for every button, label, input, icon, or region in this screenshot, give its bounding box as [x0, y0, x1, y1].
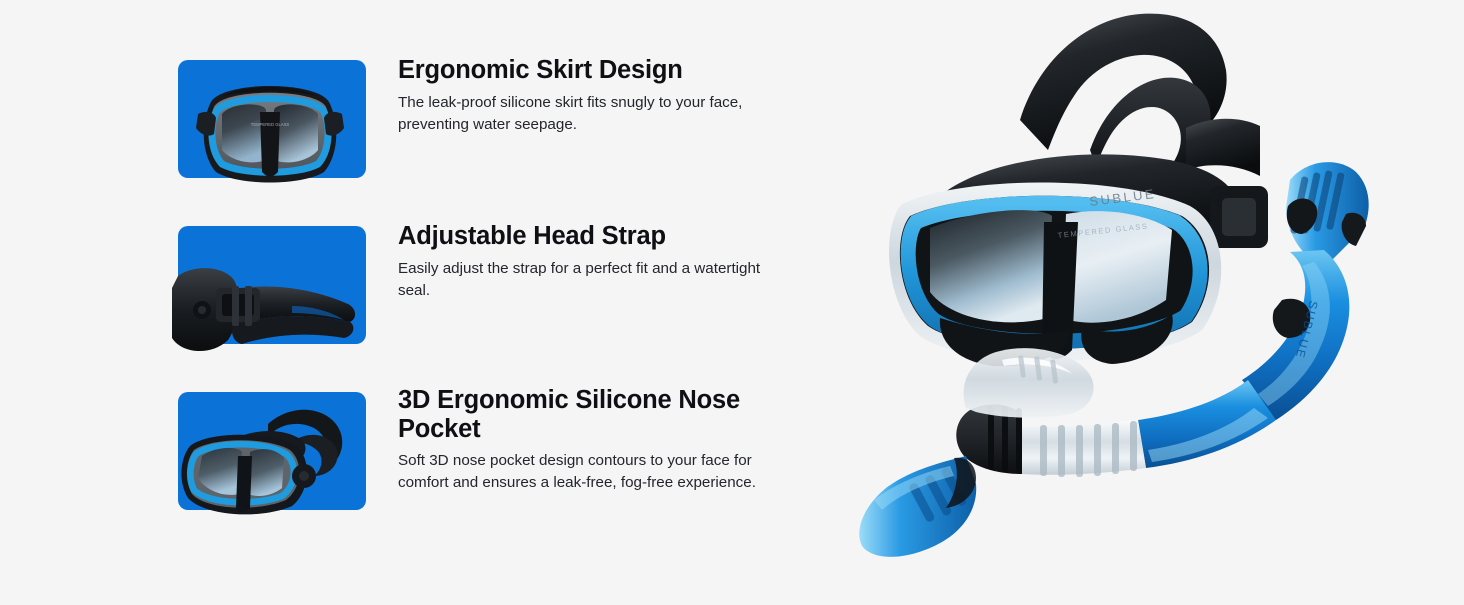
- diving-mask-front-icon: TEMPERED GLASS: [172, 52, 368, 188]
- head-strap-buckle-icon: [172, 218, 368, 354]
- feature-thumbnail-skirt: TEMPERED GLASS: [172, 52, 368, 180]
- strap-right-band: [1186, 119, 1260, 176]
- feature-item-strap: Adjustable Head Strap Easily adjust the …: [172, 218, 798, 346]
- feature-item-nose-pocket: 3D Ergonomic Silicone Nose Pocket Soft 3…: [172, 384, 798, 512]
- diving-mask-angled-icon: [172, 384, 368, 520]
- feature-thumbnail-strap: [172, 218, 368, 346]
- product-infographic: TEMPERED GLASS Ergonomic Skirt Design Th…: [0, 0, 1464, 600]
- feature-heading: 3D Ergonomic Silicone Nose Pocket: [398, 386, 798, 444]
- feature-body: Soft 3D nose pocket design contours to y…: [398, 450, 790, 493]
- feature-heading: Ergonomic Skirt Design: [398, 56, 798, 85]
- feature-thumbnail-nose-pocket: [172, 384, 368, 512]
- feature-body: The leak-proof silicone skirt fits snugl…: [398, 92, 790, 135]
- feature-text-skirt: Ergonomic Skirt Design The leak-proof si…: [398, 52, 798, 180]
- hero-product-photo: SUBLUE TEMPERED GLASS SUBLUE: [790, 0, 1464, 600]
- feature-heading: Adjustable Head Strap: [398, 222, 798, 251]
- feature-list: TEMPERED GLASS Ergonomic Skirt Design Th…: [0, 0, 820, 600]
- feature-text-nose-pocket: 3D Ergonomic Silicone Nose Pocket Soft 3…: [398, 384, 798, 512]
- snorkel-clear-ribbed-section: [1018, 420, 1146, 477]
- lens-etch-text: TEMPERED GLASS: [251, 122, 290, 127]
- mask-lens-left: [930, 210, 1052, 322]
- snorkel-mask-set-illustration: SUBLUE TEMPERED GLASS SUBLUE: [790, 0, 1464, 600]
- feature-text-strap: Adjustable Head Strap Easily adjust the …: [398, 218, 798, 346]
- feature-body: Easily adjust the strap for a perfect fi…: [398, 258, 790, 301]
- feature-item-skirt: TEMPERED GLASS Ergonomic Skirt Design Th…: [172, 52, 798, 180]
